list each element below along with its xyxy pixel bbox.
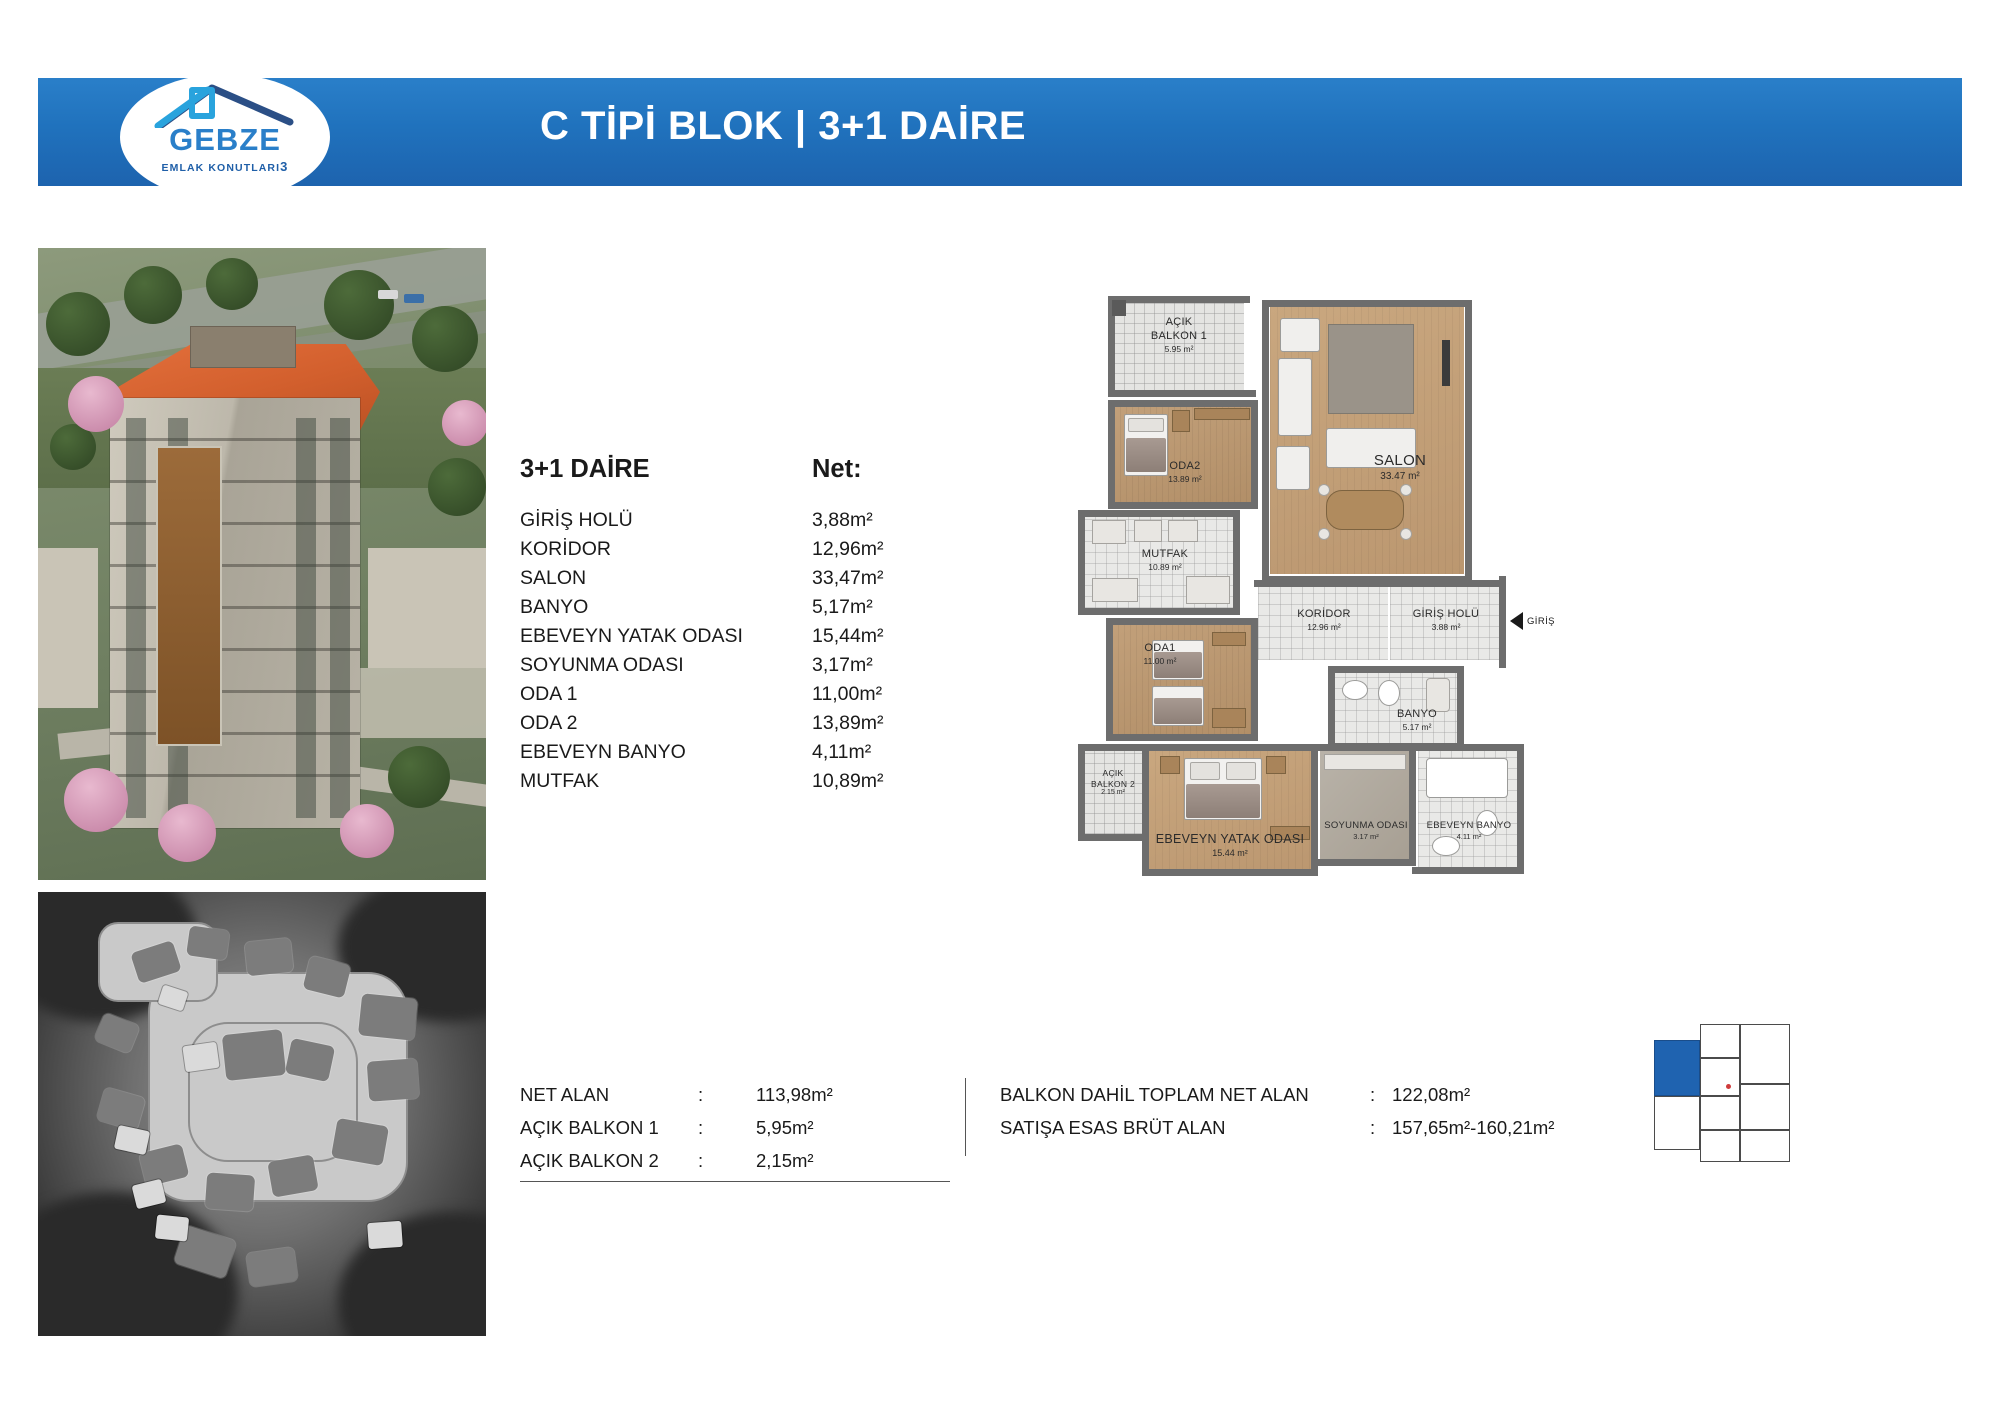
room-area: 15,44m² — [812, 622, 884, 651]
room-name: EBEVEYN YATAK ODASI — [520, 622, 812, 651]
room-area: 4,11m² — [812, 738, 871, 767]
aerial-site-plan-image — [38, 892, 486, 1336]
summary-value: 122,08m² — [1392, 1078, 1470, 1111]
summary-table-left: NET ALAN : 113,98m² AÇIK BALKON 1 : 5,95… — [520, 1078, 950, 1182]
room-name: ODA 1 — [520, 680, 812, 709]
summary-label: AÇIK BALKON 1 — [520, 1111, 698, 1144]
page-title: C TİPİ BLOK | 3+1 DAİRE — [540, 104, 1026, 149]
room-area: 5,17m² — [812, 593, 873, 622]
summary-value: 5,95m² — [756, 1111, 814, 1144]
summary-value: 2,15m² — [756, 1144, 814, 1177]
block-key-plan — [1640, 1020, 1820, 1180]
summary-colon: : — [1370, 1111, 1392, 1144]
summary-colon: : — [1370, 1078, 1392, 1111]
summary-label: AÇIK BALKON 2 — [520, 1144, 698, 1177]
summary-value: 113,98m² — [756, 1078, 833, 1111]
room-name: SALON — [520, 564, 812, 593]
room-area: 10,89m² — [812, 767, 884, 796]
summary-label: SATIŞA ESAS BRÜT ALAN — [1000, 1111, 1370, 1144]
room-name: ODA 2 — [520, 709, 812, 738]
schedule-row: KORİDOR 12,96m² — [520, 535, 940, 564]
schedule-row: EBEVEYN YATAK ODASI 15,44m² — [520, 622, 940, 651]
summary-table-right: BALKON DAHİL TOPLAM NET ALAN : 122,08m² … — [1000, 1078, 1560, 1144]
room-name: KORİDOR — [520, 535, 812, 564]
schedule-row: SOYUNMA ODASI 3,17m² — [520, 651, 940, 680]
schedule-row: BANYO 5,17m² — [520, 593, 940, 622]
building-render-image — [38, 248, 486, 880]
schedule-row: EBEVEYN BANYO 4,11m² — [520, 738, 940, 767]
summary-colon: : — [698, 1078, 756, 1111]
summary-row: BALKON DAHİL TOPLAM NET ALAN : 122,08m² — [1000, 1078, 1560, 1111]
summary-colon: : — [698, 1111, 756, 1144]
entry-label: GİRİŞ — [1527, 616, 1555, 627]
summary-label: NET ALAN — [520, 1078, 698, 1111]
schedule-header: 3+1 DAİRE Net: — [520, 455, 940, 484]
summary-row: AÇIK BALKON 2 : 2,15m² — [520, 1144, 950, 1177]
logo-subtitle-text: EMLAK KONUTLARI — [162, 162, 281, 174]
room-area: 3,88m² — [812, 506, 873, 535]
room-area-balkon1 — [1114, 302, 1244, 394]
summary-row: AÇIK BALKON 1 : 5,95m² — [520, 1111, 950, 1144]
room-name: BANYO — [520, 593, 812, 622]
schedule-row: ODA 2 13,89m² — [520, 709, 940, 738]
summary-rule — [520, 1181, 950, 1182]
room-name: MUTFAK — [520, 767, 812, 796]
summary-row: SATIŞA ESAS BRÜT ALAN : 157,65m²-160,21m… — [1000, 1111, 1560, 1144]
summary-divider — [965, 1078, 966, 1156]
schedule-row: GİRİŞ HOLÜ 3,88m² — [520, 506, 940, 535]
schedule-row: MUTFAK 10,89m² — [520, 767, 940, 796]
schedule-row: SALON 33,47m² — [520, 564, 940, 593]
room-area-giris-holu — [1390, 586, 1502, 660]
logo-name: GEBZE — [169, 124, 281, 155]
schedule-value-header: Net: — [812, 455, 862, 484]
room-area-balkon2 — [1084, 750, 1142, 834]
room-schedule: 3+1 DAİRE Net: GİRİŞ HOLÜ 3,88m² KORİDOR… — [520, 455, 940, 796]
room-area: 33,47m² — [812, 564, 884, 593]
room-area: 3,17m² — [812, 651, 873, 680]
key-plan-active-unit — [1654, 1040, 1700, 1096]
summary-label: BALKON DAHİL TOPLAM NET ALAN — [1000, 1078, 1370, 1111]
brand-logo: GEBZE EMLAK KONUTLARI3 — [110, 72, 340, 202]
logo-subtitle: EMLAK KONUTLARI3 — [162, 159, 289, 174]
summary-row: NET ALAN : 113,98m² — [520, 1078, 950, 1111]
logo-oval: GEBZE EMLAK KONUTLARI3 — [120, 74, 330, 200]
room-name: GİRİŞ HOLÜ — [520, 506, 812, 535]
room-area-koridor — [1258, 586, 1388, 660]
floor-plan-drawing: AÇIK BALKON 1 5.95 m² SALON 33.47 m² ODA… — [1090, 280, 1650, 1020]
room-name: EBEVEYN BANYO — [520, 738, 812, 767]
summary-colon: : — [698, 1144, 756, 1177]
room-area: 13,89m² — [812, 709, 884, 738]
house-roof-icon — [150, 82, 300, 128]
entry-arrow-icon — [1510, 612, 1523, 630]
schedule-row: ODA 1 11,00m² — [520, 680, 940, 709]
summary-value: 157,65m²-160,21m² — [1392, 1111, 1554, 1144]
room-area: 12,96m² — [812, 535, 884, 564]
entry-marker: GİRİŞ — [1510, 612, 1555, 630]
key-plan-marker — [1726, 1084, 1731, 1089]
room-name: SOYUNMA ODASI — [520, 651, 812, 680]
room-area: 11,00m² — [812, 680, 882, 709]
logo-subtitle-number: 3 — [280, 159, 288, 174]
schedule-title: 3+1 DAİRE — [520, 455, 812, 484]
